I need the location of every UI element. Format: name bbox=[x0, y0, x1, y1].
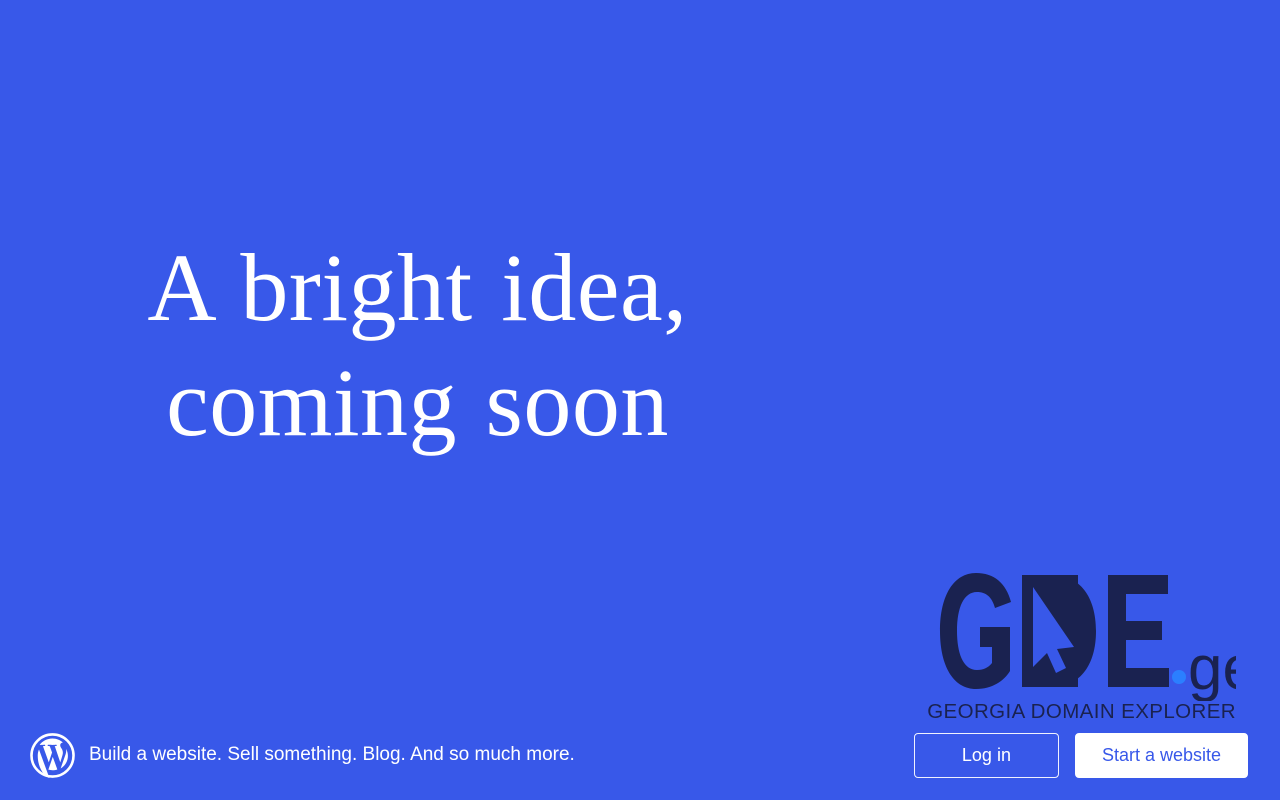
hero-section: A bright idea, coming soon bbox=[0, 0, 835, 690]
login-button[interactable]: Log in bbox=[914, 733, 1059, 778]
auth-actions: Log in Start a website bbox=[914, 733, 1248, 778]
wordpress-promo[interactable]: Build a website. Sell something. Blog. A… bbox=[30, 733, 575, 778]
start-website-button[interactable]: Start a website bbox=[1075, 733, 1248, 778]
logo-dot-icon bbox=[1172, 670, 1186, 684]
gde-logo-icon: ge bbox=[936, 561, 1236, 701]
brand-logo-block: ge GEORGIA DOMAIN EXPLORER bbox=[936, 561, 1236, 723]
svg-text:ge: ge bbox=[1188, 634, 1236, 701]
bottom-bar: Build a website. Sell something. Blog. A… bbox=[0, 710, 1280, 800]
wordpress-tagline: Build a website. Sell something. Blog. A… bbox=[89, 744, 575, 767]
page-title: A bright idea, coming soon bbox=[58, 230, 778, 460]
wordpress-logo-icon bbox=[30, 733, 75, 778]
